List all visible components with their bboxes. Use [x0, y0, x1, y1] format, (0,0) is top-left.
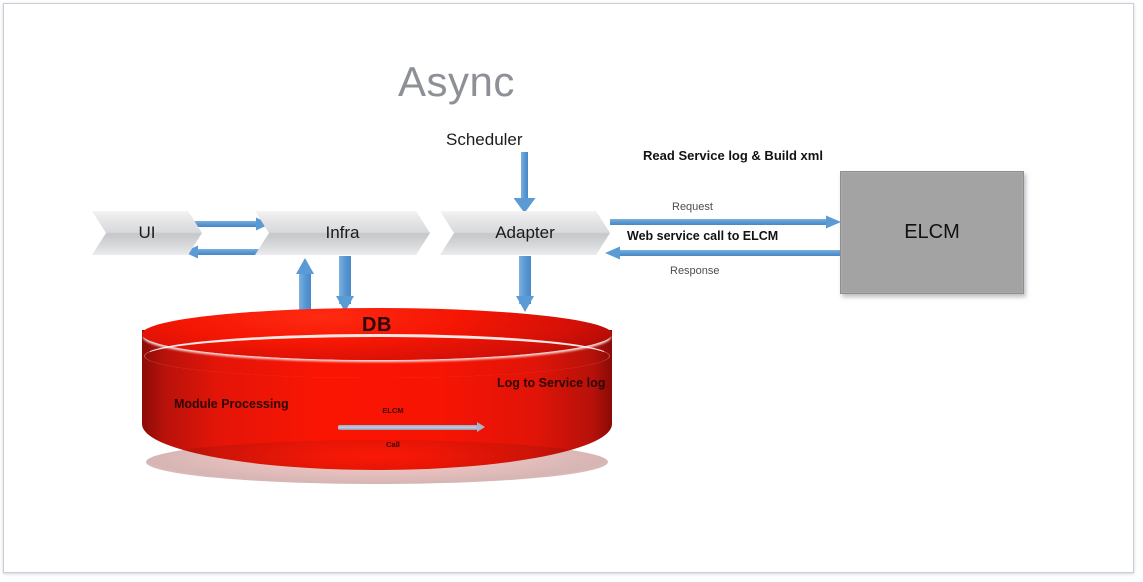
page-title: Async	[398, 58, 515, 106]
db-mini-arrow-top-label: ELCM	[353, 406, 433, 415]
scheduler-label: Scheduler	[446, 130, 523, 150]
arrow-elcm-to-adapter-response	[605, 247, 840, 260]
arrow-scheduler-to-adapter	[514, 152, 536, 213]
read-service-log-build-xml-label: Read Service log & Build xml	[626, 147, 840, 165]
request-label: Request	[672, 201, 713, 213]
arrow-infra-to-db	[336, 256, 354, 312]
node-db[interactable]: DB Module Processing Log to Service log …	[142, 308, 612, 493]
node-ui-label: UI	[139, 223, 156, 243]
web-service-call-label: Web service call to ELCM	[627, 228, 778, 245]
node-elcm-label: ELCM	[904, 221, 960, 244]
node-infra-label: Infra	[325, 223, 359, 243]
db-log-to-service-log-label: Log to Service log	[497, 376, 605, 390]
db-elcm-call-arrow	[338, 425, 478, 430]
arrow-adapter-to-db	[516, 256, 534, 312]
db-cylinder-rim	[144, 334, 610, 378]
node-adapter-label: Adapter	[495, 223, 555, 243]
diagram-canvas: Async Scheduler Read Service log & Build…	[0, 0, 1143, 582]
db-mini-arrow-bottom-label: Call	[353, 440, 433, 449]
node-elcm[interactable]: ELCM	[840, 171, 1024, 294]
node-ui[interactable]: UI	[92, 211, 202, 255]
diagram-screenshot: Async Scheduler Read Service log & Build…	[0, 0, 1143, 582]
db-label: DB	[142, 314, 612, 337]
node-infra[interactable]: Infra	[255, 211, 430, 255]
node-adapter[interactable]: Adapter	[440, 211, 610, 255]
db-module-processing-label: Module Processing	[174, 397, 289, 411]
arrow-adapter-to-elcm-request	[610, 216, 841, 229]
response-label: Response	[670, 265, 720, 277]
